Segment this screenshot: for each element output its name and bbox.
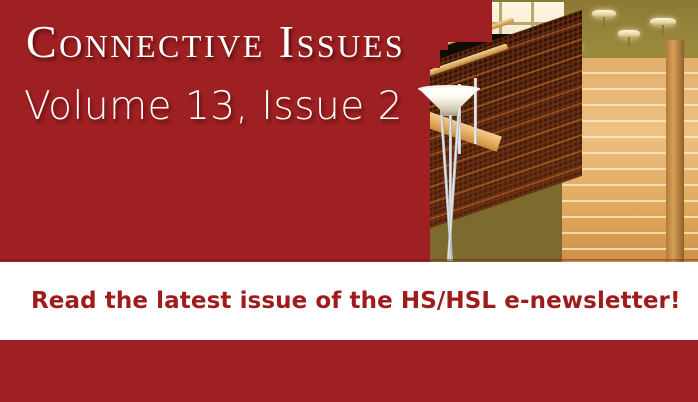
page-title: Connective Issues <box>26 17 405 68</box>
torchiere-lamp-icon <box>418 88 480 262</box>
newel-post <box>666 40 684 262</box>
footer-red-area <box>0 340 698 402</box>
newsletter-banner: Connective Issues Volume 13, Issue 2 Rea… <box>0 0 698 402</box>
issue-subtitle: Volume 13, Issue 2 <box>24 84 403 129</box>
cta-link-text[interactable]: Read the latest issue of the HS/HSL e-ne… <box>31 288 681 314</box>
cta-band[interactable]: Read the latest issue of the HS/HSL e-ne… <box>0 262 698 340</box>
